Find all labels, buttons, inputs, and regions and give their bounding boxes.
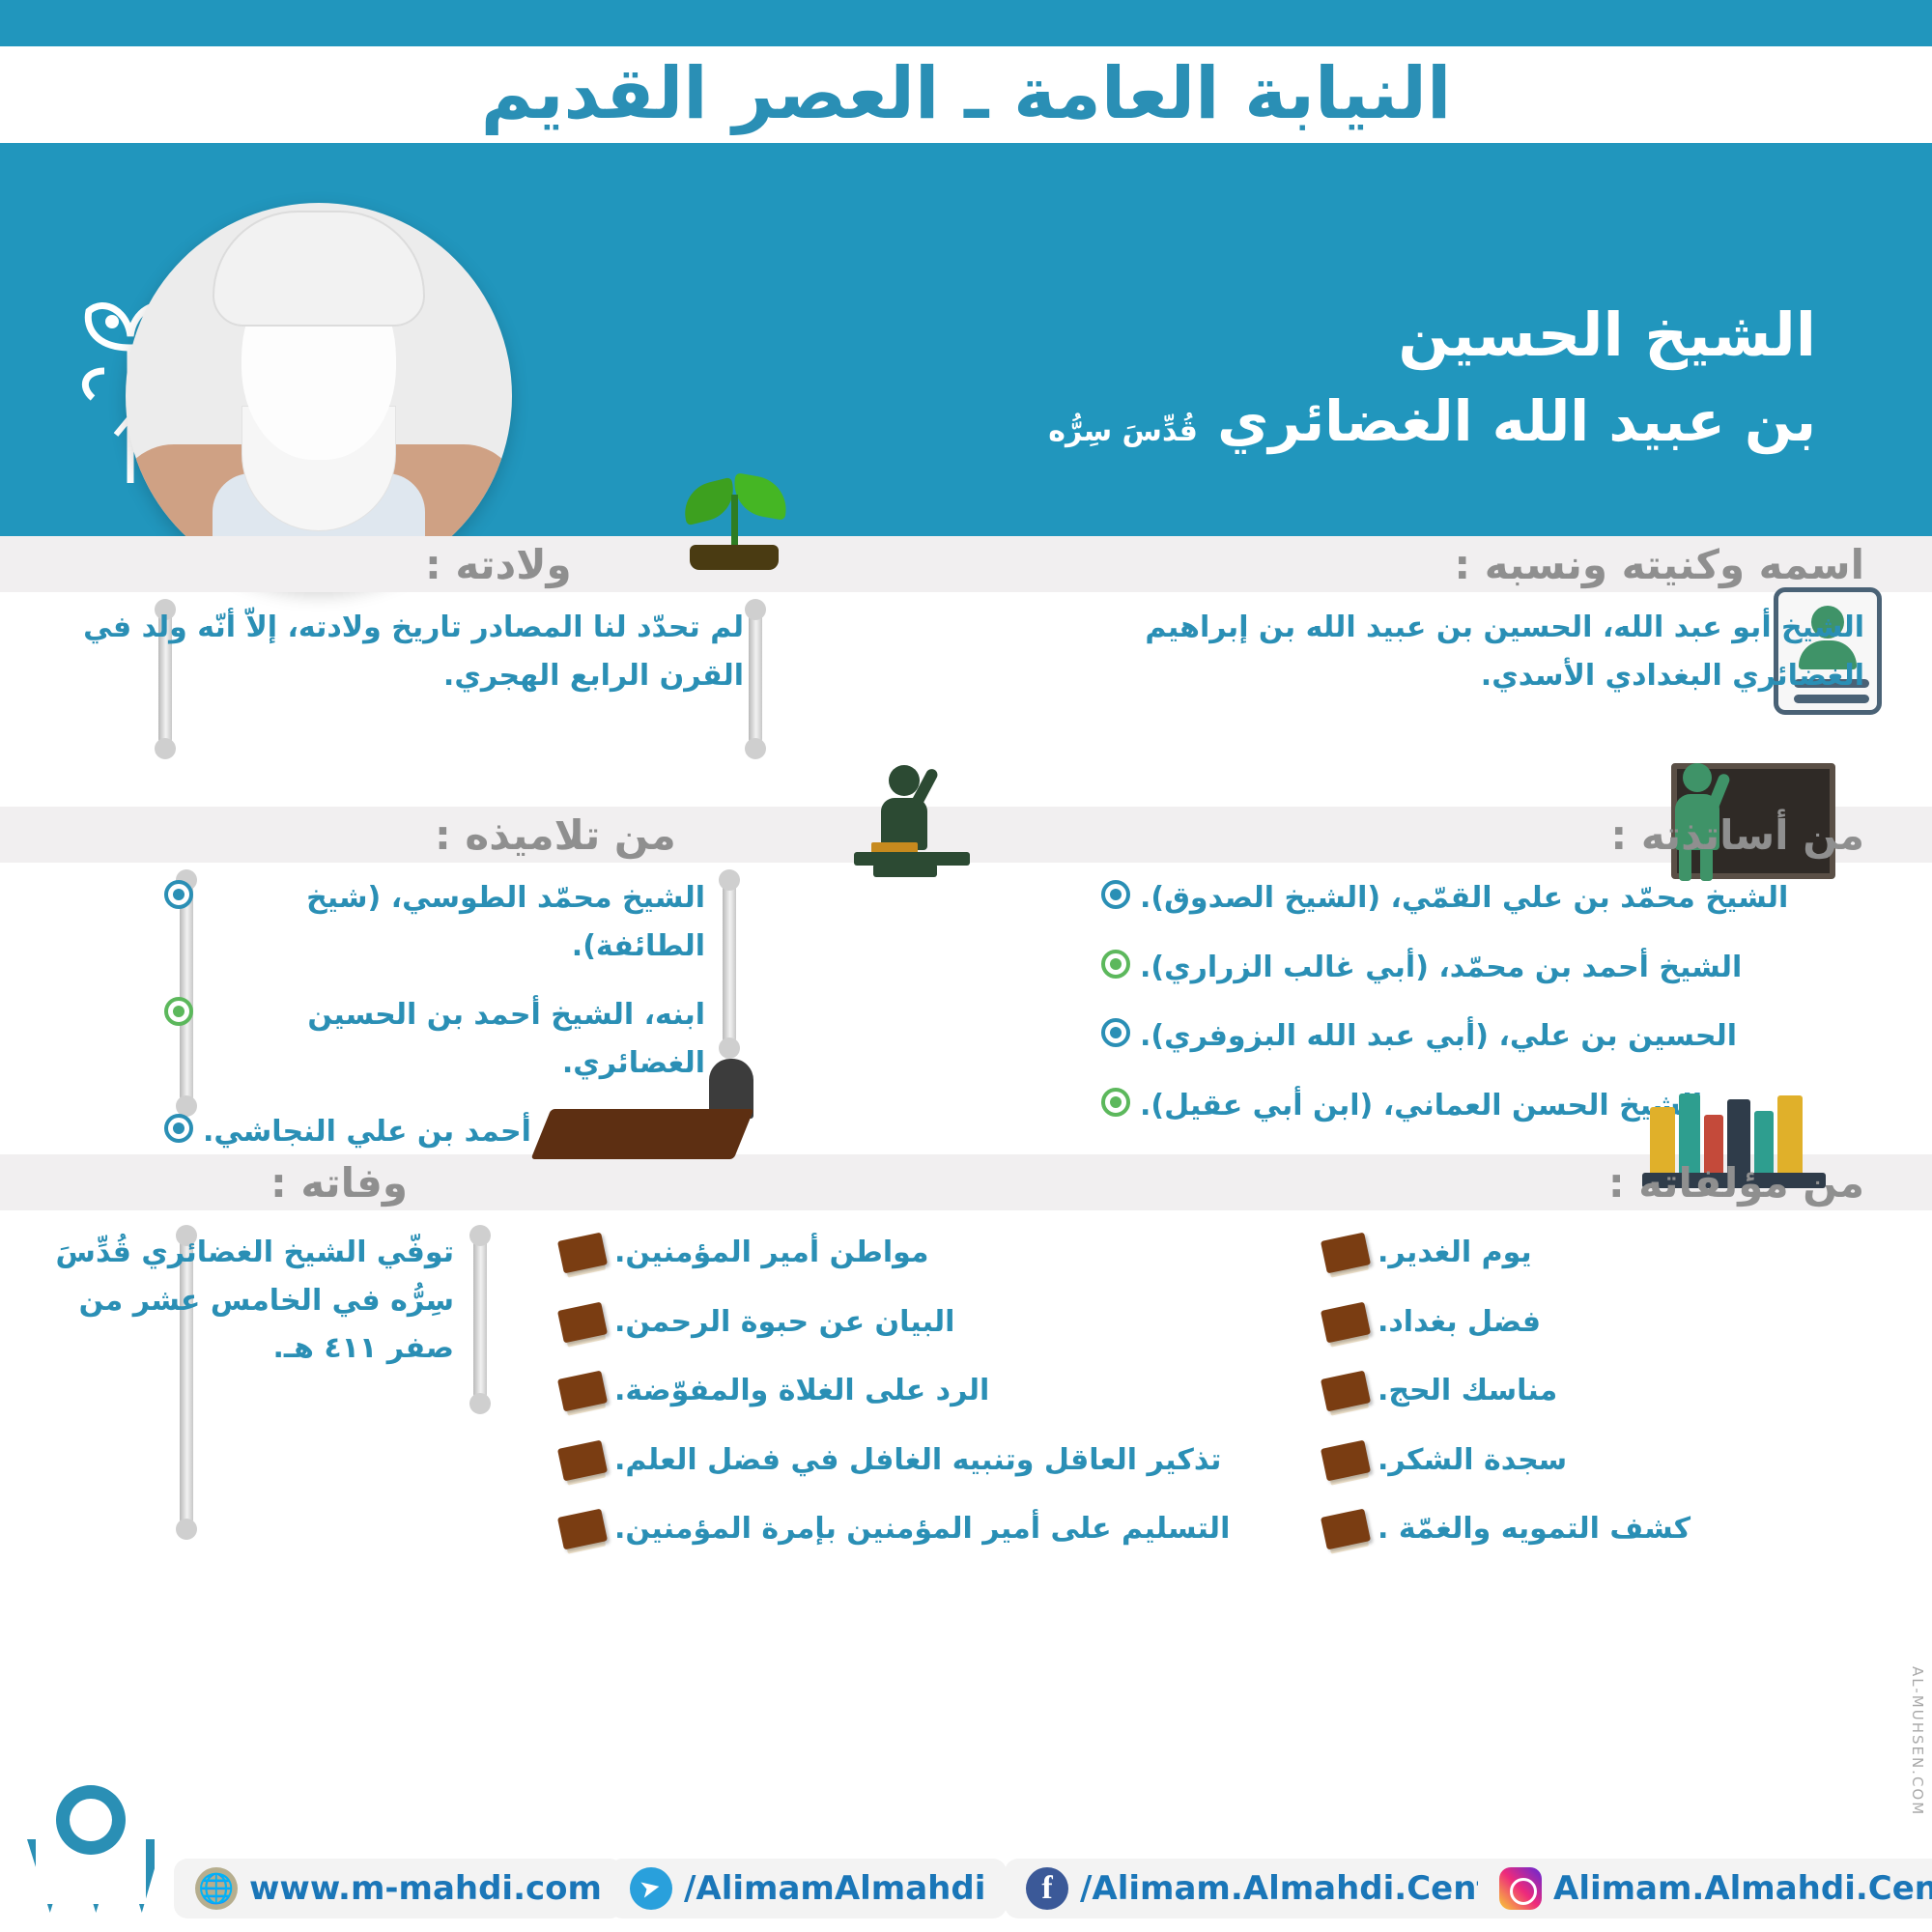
scholar-honorific: قُدِّسَ سِرُّه <box>1048 414 1198 448</box>
footer-link-instagram[interactable]: Alimam.Almahdi.Center <box>1478 1859 1932 1918</box>
student-desk-icon <box>850 763 976 879</box>
works-list-left: مواطن أمير المؤمنين.البيان عن حبوة الرحم… <box>560 1229 1256 1575</box>
list-item: سجدة الشكر. <box>1323 1436 1864 1485</box>
list-item: الرد على الغلاة والمفوّضة. <box>560 1367 1256 1415</box>
list-item: مواطن أمير المؤمنين. <box>560 1229 1256 1277</box>
list-item-label: الشيخ محمّد الطوسي، (شيخ الطائفة). <box>203 874 705 970</box>
page-title: النيابة العامة ـ العصر القديم <box>0 43 1932 144</box>
telegram-icon <box>630 1867 672 1910</box>
text-name-lineage: الشيخ أبو عبد الله، الحسين بن عبيد الله … <box>1072 604 1864 699</box>
text-death: توفّي الشيخ الغضائري قُدِّسَ سِرُّه في ا… <box>39 1229 454 1373</box>
footer-link-instagram-label: Alimam.Almahdi.Center <box>1553 1869 1932 1908</box>
book-icon <box>1321 1371 1371 1412</box>
facebook-icon <box>1026 1867 1068 1910</box>
bullet-icon <box>164 1114 193 1143</box>
book-icon <box>1321 1233 1371 1274</box>
bullet-icon <box>164 997 193 1026</box>
list-item: يوم الغدير. <box>1323 1229 1864 1277</box>
book-title-label: يوم الغدير. <box>1378 1229 1532 1277</box>
list-item: الحسين بن علي، (أبي عبد الله البزوفري). <box>1101 1012 1864 1061</box>
book-title-label: التسليم على أمير المؤمنين بإمرة المؤمنين… <box>614 1505 1230 1553</box>
heading-teachers: من أساتذته : <box>1610 807 1864 863</box>
book-title-label: سجدة الشكر. <box>1378 1436 1567 1485</box>
globe-icon <box>195 1867 238 1910</box>
book-title-label: مواطن أمير المؤمنين. <box>614 1229 929 1277</box>
book-icon <box>557 1371 608 1412</box>
book-icon <box>1321 1509 1371 1550</box>
list-item-label: الشيخ أحمد بن محمّد، (أبي غالب الزراري). <box>1140 944 1742 992</box>
book-icon <box>557 1509 608 1550</box>
heading-death: وفاته : <box>270 1154 408 1210</box>
list-item: التسليم على أمير المؤمنين بإمرة المؤمنين… <box>560 1505 1256 1553</box>
footer-link-facebook-label: /Alimam.Almahdi.Center <box>1080 1869 1531 1908</box>
bullet-icon <box>164 880 193 909</box>
list-item: كشف التمويه والغمّة . <box>1323 1505 1864 1553</box>
heading-birth: ولادته : <box>425 536 572 592</box>
book-icon <box>1321 1301 1371 1343</box>
infographic-page: النيابة العامة ـ العصر القديم الشيخ الحس… <box>0 0 1932 1932</box>
scholar-name-line2: بن عبيد الله الغضائري <box>1217 388 1816 454</box>
footer-link-website-label: www.m-mahdi.com <box>249 1869 602 1908</box>
heading-works: من مؤلفاته : <box>1608 1154 1864 1210</box>
scholar-name-line1: الشيخ الحسين <box>966 290 1816 380</box>
book-icon <box>1321 1439 1371 1481</box>
grave-icon <box>541 1063 763 1159</box>
scholar-portrait-illustration <box>126 203 512 589</box>
almahdi-center-logo <box>23 1785 158 1920</box>
book-title-label: البيان عن حبوة الرحمن. <box>614 1298 954 1347</box>
works-list-right: يوم الغدير.فضل بغداد.مناسك الحج.سجدة الش… <box>1323 1229 1864 1575</box>
book-title-label: تذكير العاقل وتنبيه الغافل في فضل العلم. <box>614 1436 1221 1485</box>
footer-link-facebook[interactable]: /Alimam.Almahdi.Center <box>1005 1859 1552 1918</box>
heading-students: من تلاميذه : <box>435 807 676 863</box>
list-item: الشيخ محمّد الطوسي، (شيخ الطائفة). <box>164 874 705 970</box>
pin-divider-students <box>723 881 736 1045</box>
list-item: فضل بغداد. <box>1323 1298 1864 1347</box>
top-accent-strip <box>0 0 1932 46</box>
book-title-label: فضل بغداد. <box>1378 1298 1541 1347</box>
pin-divider-death <box>473 1236 487 1401</box>
bullet-icon <box>1101 1018 1130 1047</box>
watermark: AL-MUHSEN.COM <box>1909 1666 1926 1816</box>
footer: www.m-mahdi.com /AlimamAlmahdi /Alimam.A… <box>0 1835 1932 1932</box>
text-birth: لم تحدّد لنا المصادر تاريخ ولادته، إلاّ … <box>29 604 744 699</box>
scholar-name: الشيخ الحسين بن عبيد الله الغضائري قُدِّ… <box>966 290 1816 464</box>
sprout-plant-icon <box>676 464 792 570</box>
instagram-icon <box>1499 1867 1542 1910</box>
list-item-label: الشيخ الحسن العماني، (ابن أبي عقيل). <box>1140 1082 1702 1130</box>
book-icon <box>557 1301 608 1343</box>
book-title-label: الرد على الغلاة والمفوّضة. <box>614 1367 989 1415</box>
book-icon <box>557 1439 608 1481</box>
list-item: الشيخ أحمد بن محمّد، (أبي غالب الزراري). <box>1101 944 1864 992</box>
footer-link-telegram-label: /AlimamAlmahdi <box>684 1869 985 1908</box>
list-item: مناسك الحج. <box>1323 1367 1864 1415</box>
footer-link-telegram[interactable]: /AlimamAlmahdi <box>609 1859 1007 1918</box>
book-title-label: كشف التمويه والغمّة . <box>1378 1505 1690 1553</box>
book-title-label: مناسك الحج. <box>1378 1367 1557 1415</box>
bullet-icon <box>1101 880 1130 909</box>
list-item-label: الشيخ محمّد بن علي القمّي، (الشيخ الصدوق… <box>1140 874 1788 923</box>
list-item-label: الحسين بن علي، (أبي عبد الله البزوفري). <box>1140 1012 1737 1061</box>
bullet-icon <box>1101 1088 1130 1117</box>
list-item: الشيخ محمّد بن علي القمّي، (الشيخ الصدوق… <box>1101 874 1864 923</box>
list-item: البيان عن حبوة الرحمن. <box>560 1298 1256 1347</box>
pin-divider-birth <box>749 611 762 746</box>
book-icon <box>557 1233 608 1274</box>
heading-name-lineage: اسمه وكنيته ونسبه : <box>1454 536 1864 592</box>
bullet-icon <box>1101 950 1130 979</box>
footer-link-website[interactable]: www.m-mahdi.com <box>174 1859 623 1918</box>
list-item: تذكير العاقل وتنبيه الغافل في فضل العلم. <box>560 1436 1256 1485</box>
